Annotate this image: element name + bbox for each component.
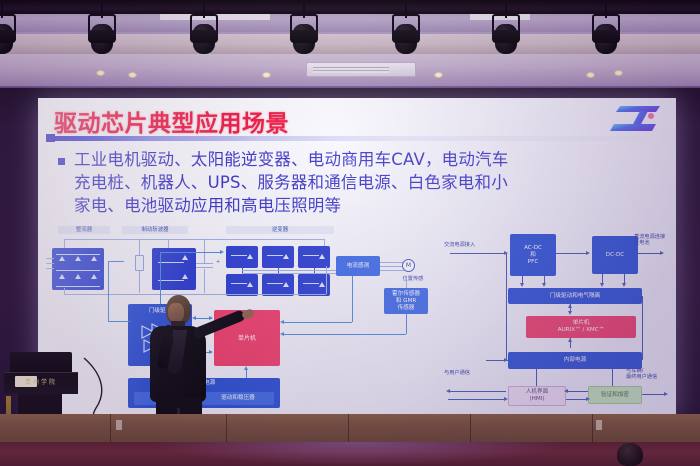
downlight <box>128 72 137 78</box>
motor-phase <box>380 270 404 271</box>
dc-link-capacitor <box>196 263 213 264</box>
block-dcdc: DC-DC <box>592 236 638 274</box>
resistor-lead <box>139 271 140 293</box>
floor-light-reflection <box>150 442 570 466</box>
gate-signal-line <box>108 261 124 262</box>
polarity-label: + <box>214 259 222 265</box>
arrow-icon <box>568 304 572 308</box>
downlight <box>586 72 595 78</box>
gate-signal-line <box>108 321 130 322</box>
hall-feedback <box>282 334 406 335</box>
arrow-icon <box>504 397 508 401</box>
arrow-icon <box>600 283 604 287</box>
label-vehicle-comm: 与车辆/ 最终用户通信 <box>626 368 674 381</box>
arrow-icon <box>542 283 546 287</box>
ceiling-vent-icon <box>306 62 416 77</box>
caption-inverter: 逆变器 <box>226 226 334 234</box>
arrow-icon <box>586 251 590 255</box>
chopper-igbt <box>152 248 196 290</box>
downlight <box>262 72 271 78</box>
inverter-igbt <box>262 274 294 296</box>
arrow-icon <box>520 283 524 287</box>
phase-line <box>242 270 336 271</box>
caption-rectifier: 整流器 <box>58 226 110 234</box>
aux-power-link <box>246 370 247 378</box>
dc-output-line <box>638 253 662 254</box>
title-divider <box>52 136 652 141</box>
arrow-icon <box>660 251 664 255</box>
block-internal-power: 内部电源 <box>508 352 642 369</box>
inverter-igbt <box>262 246 294 268</box>
label-user-comm: 与用户通信 <box>444 370 488 376</box>
arrow-icon <box>244 366 248 370</box>
square-bullet-icon <box>58 158 65 165</box>
page-title: 驱动芯片典型应用场景 <box>54 104 289 138</box>
hmi-link <box>536 369 537 386</box>
screenshot-root: 驱动芯片典型应用场景 工业 <box>0 0 700 466</box>
label-dc-output: 直流电源连接 至电池 <box>634 234 674 247</box>
gate-signal-line <box>108 261 109 321</box>
arrow-icon <box>220 250 224 254</box>
bullet-line: 工业电机驱动、太阳能逆变器、电动商用车CAV，电动汽车 <box>74 148 508 171</box>
audience-head <box>617 443 643 466</box>
lighting-truss <box>0 0 700 14</box>
bus-drop <box>139 239 140 248</box>
inverter-igbt <box>226 274 258 296</box>
downlight <box>614 70 623 76</box>
vehicle-comm-line <box>642 394 666 395</box>
bus-drop <box>168 239 169 248</box>
bullet-text: 工业电机驱动、太阳能逆变器、电动商用车CAV，电动汽车 充电桩、机器人、UPS、… <box>74 148 508 217</box>
arrow-icon <box>564 389 568 393</box>
dc-link-line <box>556 253 588 254</box>
hall-feedback <box>406 314 407 334</box>
arrow-icon <box>622 283 626 287</box>
arrow-icon <box>446 389 450 393</box>
ac-input-line <box>46 258 54 259</box>
downlight <box>96 70 105 76</box>
list-item: 工业电机驱动、太阳能逆变器、电动商用车CAV，电动汽车 充电桩、机器人、UPS、… <box>58 148 666 217</box>
brake-resistor <box>135 255 144 271</box>
podium-label: 贵州学院 <box>6 377 76 387</box>
bus-drop <box>64 239 65 248</box>
arrow-icon <box>280 320 284 324</box>
inverter-igbt <box>298 246 330 268</box>
wood-wainscot <box>0 414 700 444</box>
motor-symbol: M <box>402 259 415 272</box>
sense-feedback <box>352 276 353 322</box>
auth-link <box>612 369 613 386</box>
block-acdc-pfc: AC-DC 和 PFC <box>510 234 556 276</box>
block-gate-drive-isolation: 门级驱动和电气隔离 <box>508 288 642 304</box>
power-rail <box>642 296 643 360</box>
bullet-line: 充电桩、机器人、UPS、服务器和通信电源、白色家电和小 <box>74 171 508 194</box>
sense-feedback <box>282 322 352 323</box>
sensor-link <box>406 280 407 288</box>
caption-brake-chopper: 制动斩波器 <box>122 226 188 234</box>
arrow-icon <box>280 332 284 336</box>
bus-drop <box>64 288 65 295</box>
hmi-auth-link <box>566 391 588 392</box>
gong-character-logo <box>610 102 662 136</box>
projection-screen: 驱动芯片典型应用场景 工业 <box>38 98 676 416</box>
downlight <box>434 72 443 78</box>
block-current-sensing: 电流感测 <box>336 256 380 276</box>
rectifier-bridge <box>52 248 104 290</box>
block-hall-gmr-sensor: 霍尔传感器 和 GMR 传感器 <box>384 288 428 314</box>
bullet-list: 工业电机驱动、太阳能逆变器、电动商用车CAV，电动汽车 充电桩、机器人、UPS、… <box>58 148 666 217</box>
motor-phase <box>380 262 404 263</box>
comm-line-out <box>448 391 506 392</box>
arrow-icon <box>664 392 668 396</box>
ac-input-line <box>46 268 54 269</box>
arrow-icon <box>568 338 572 342</box>
bus-drop <box>326 266 327 294</box>
arrow-icon <box>568 311 572 315</box>
bus-drop <box>204 239 205 261</box>
power-rail <box>506 253 507 360</box>
cap-lead <box>204 269 205 293</box>
block-hmi: 人机界面 (HMI) <box>508 386 566 406</box>
block-auth-encryption: 验证和加密 <box>588 386 642 404</box>
inverter-igbt <box>226 246 258 268</box>
bullet-line: 家电、电池驱动应用和高电压照明等 <box>74 194 508 217</box>
dc-bus-top <box>64 239 324 240</box>
ac-input-line <box>450 253 506 254</box>
gate-signal-line <box>160 252 222 253</box>
ac-input-line <box>46 263 54 264</box>
comm-line-in <box>448 399 506 400</box>
hmi-auth-link <box>566 399 588 400</box>
arrow-icon <box>504 358 508 362</box>
label-position-sensing: 位置传感 <box>396 276 430 282</box>
block-mcu-aurix: 单片机 AURIX™ / XMC™ <box>526 316 636 338</box>
arrow-icon <box>586 397 590 401</box>
motor-phase <box>380 266 404 267</box>
phase-line <box>242 273 336 274</box>
microphone-icon <box>166 325 171 338</box>
label-ac-input: 交流电源接入 <box>444 242 504 248</box>
